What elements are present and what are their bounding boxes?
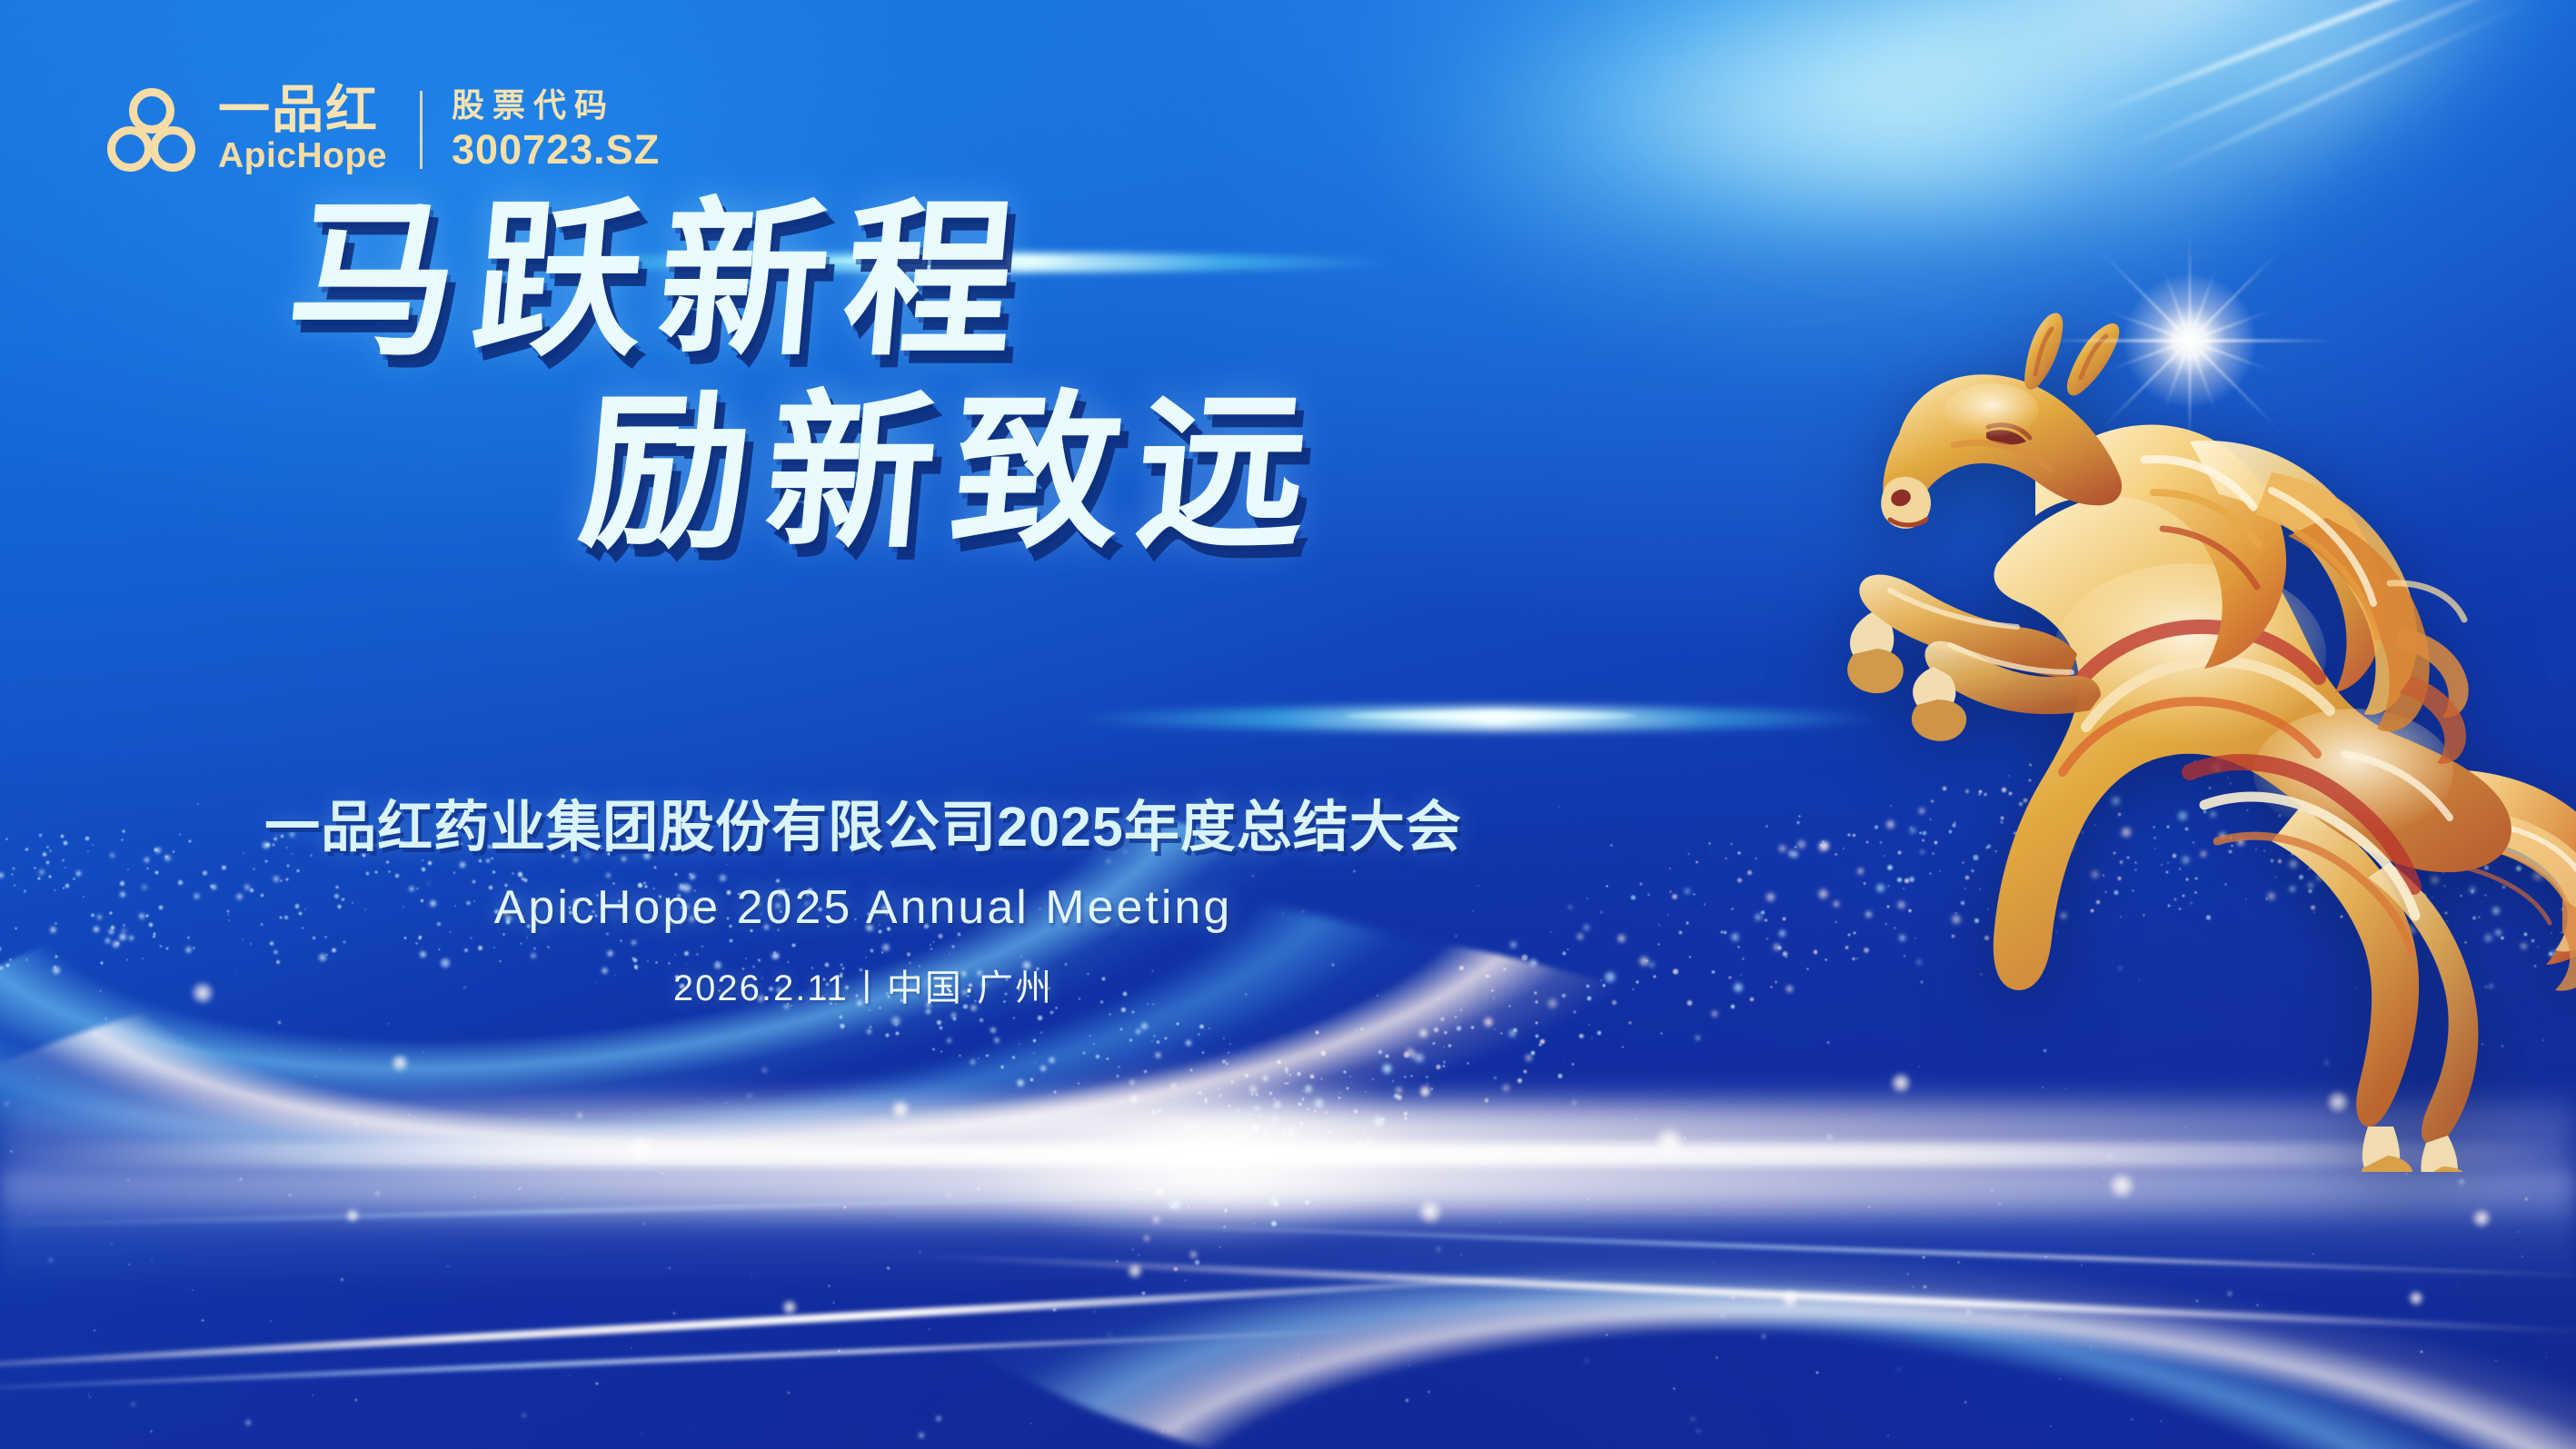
bokeh-particle (1277, 1059, 1281, 1064)
bokeh-particle (1215, 1132, 1218, 1136)
bokeh-particle (952, 1017, 956, 1020)
bokeh-particle (1348, 1206, 1349, 1207)
bokeh-particle (1316, 1182, 1318, 1184)
horse-head (1881, 313, 2122, 528)
bokeh-particle (1456, 1025, 1462, 1031)
bokeh-particle (1289, 1074, 1291, 1076)
bokeh-particle (1107, 1332, 1112, 1337)
bokeh-particle (1343, 1070, 1347, 1074)
bokeh-particle (886, 1266, 890, 1271)
bokeh-particle (935, 1415, 941, 1422)
bokeh-particle (2524, 1197, 2528, 1201)
bokeh-particle (1183, 1123, 1192, 1132)
bokeh-particle (1032, 1038, 1037, 1043)
bokeh-particle (1912, 1285, 1915, 1288)
bokeh-particle (1229, 1153, 1233, 1156)
bokeh-particle (1408, 1365, 1410, 1366)
bokeh-particle (1427, 1390, 1430, 1393)
bokeh-particle (1228, 1105, 1231, 1108)
bokeh-particle (1499, 1221, 1501, 1223)
subtitle-en: ApicHope 2025 Annual Meeting (0, 880, 1726, 935)
bokeh-particle (1393, 1093, 1399, 1099)
bokeh-particle (1436, 1246, 1441, 1252)
bokeh-particle (1237, 1109, 1239, 1112)
bokeh-particle (1730, 1004, 1736, 1009)
bokeh-particle (1730, 843, 1733, 846)
bokeh-particle (1922, 1255, 1925, 1259)
logo-divider (420, 91, 423, 169)
bokeh-particle (1467, 1062, 1469, 1065)
bokeh-particle (1138, 1254, 1140, 1256)
bokeh-particle (1320, 1050, 1327, 1057)
bokeh-particle (1965, 1309, 1972, 1315)
bokeh-particle (1535, 1021, 1538, 1025)
bokeh-particle (1338, 1092, 1340, 1094)
bokeh-orb (1654, 1126, 1685, 1157)
bokeh-particle (1896, 1367, 1901, 1372)
bokeh-particle (1253, 1223, 1255, 1225)
bokeh-particle (1351, 1081, 1353, 1083)
bokeh-particle (895, 1023, 898, 1026)
bokeh-particle (840, 1135, 842, 1137)
bokeh-particle (1622, 1046, 1625, 1048)
bokeh-particle (1273, 1100, 1282, 1109)
bokeh-particle (761, 1067, 769, 1074)
bokeh-particle (1427, 1083, 1428, 1085)
bokeh-particle (1013, 1017, 1016, 1019)
bokeh-particle (1286, 1126, 1297, 1137)
bokeh-particle (28, 1214, 30, 1216)
bokeh-particle (1338, 1097, 1340, 1099)
bokeh-particle (1443, 1060, 1447, 1064)
bokeh-particle (1484, 1097, 1489, 1103)
bokeh-particle (1406, 1047, 1413, 1055)
bokeh-particle (340, 1048, 342, 1050)
bokeh-particle (1089, 1035, 1090, 1037)
bokeh-particle (1179, 1425, 1180, 1427)
bokeh-particle (1262, 1131, 1268, 1137)
bokeh-particle (1571, 1099, 1577, 1106)
bokeh-particle (1093, 1310, 1096, 1313)
bokeh-particle (1906, 1273, 1908, 1275)
bokeh-particle (1887, 1434, 1889, 1436)
bokeh-particle (679, 1156, 681, 1158)
bokeh-particle (1731, 908, 1734, 910)
bokeh-particle (1141, 1291, 1146, 1295)
bokeh-particle (2546, 1356, 2548, 1358)
bokeh-particle (111, 1243, 113, 1245)
bokeh-particle (518, 1187, 521, 1190)
bokeh-particle (192, 1289, 194, 1291)
bokeh-particle (2256, 1304, 2259, 1306)
bokeh-particle (990, 1027, 997, 1034)
bokeh-particle (1039, 1065, 1047, 1072)
bokeh-particle (1454, 1148, 1457, 1151)
bokeh-particle (1754, 913, 1762, 921)
bokeh-particle (759, 1145, 761, 1146)
bokeh-particle (838, 1349, 840, 1352)
logo-ring-bottom-right (150, 126, 195, 172)
bokeh-particle (1129, 1094, 1139, 1104)
bokeh-particle (1169, 1205, 1174, 1209)
bokeh-particle (1372, 1078, 1374, 1080)
bokeh-particle (270, 1320, 272, 1322)
bokeh-particle (521, 1413, 526, 1418)
bokeh-particle (992, 1139, 994, 1141)
bokeh-particle (1454, 1016, 1457, 1018)
bokeh-particle (239, 1177, 243, 1181)
bokeh-particle (1118, 1066, 1119, 1067)
bokeh-particle (1523, 1069, 1527, 1074)
bokeh-particle (1419, 1085, 1431, 1097)
bokeh-particle (1378, 1049, 1383, 1055)
bokeh-particle (1276, 1147, 1278, 1150)
iridescent-streak (2063, 0, 2576, 127)
bokeh-particle (1749, 997, 1755, 1003)
bokeh-particle (1405, 1398, 1409, 1403)
speed-line (0, 1192, 1272, 1230)
bokeh-particle (1957, 1261, 1959, 1263)
bokeh-particle (1033, 1121, 1039, 1127)
bokeh-particle (1353, 1108, 1359, 1115)
bokeh-particle (1138, 1206, 1139, 1208)
bokeh-particle (1281, 1134, 1285, 1137)
bokeh-particle (1224, 1208, 1228, 1213)
bokeh-particle (895, 1031, 900, 1036)
bokeh-particle (2081, 1265, 2083, 1266)
bokeh-particle (1746, 869, 1753, 876)
bokeh-particle (1095, 1054, 1100, 1059)
bokeh-particle (1310, 1148, 1312, 1150)
bokeh-particle (1218, 1094, 1222, 1097)
bokeh-particle (1155, 1187, 1165, 1197)
bokeh-particle (1306, 1180, 1308, 1182)
bokeh-particle (1298, 1354, 1299, 1355)
bokeh-particle (2420, 1350, 2423, 1354)
bokeh-particle (1299, 1121, 1305, 1126)
bokeh-particle (2023, 1313, 2028, 1318)
bokeh-particle (1347, 1156, 1355, 1164)
bokeh-particle (672, 1311, 676, 1315)
bokeh-particle (1129, 1122, 1130, 1124)
bokeh-particle (1240, 1197, 1242, 1199)
bokeh-particle (1034, 1063, 1036, 1065)
bokeh-particle (1579, 1035, 1581, 1037)
bokeh-particle (1344, 1151, 1347, 1154)
bokeh-particle (631, 1347, 632, 1349)
bokeh-particle (388, 1023, 390, 1025)
bokeh-particle (1366, 1137, 1374, 1146)
bokeh-particle (482, 1113, 483, 1115)
bokeh-particle (1531, 1345, 1533, 1346)
bokeh-orb (2472, 1208, 2491, 1228)
bokeh-particle (1225, 1150, 1231, 1156)
bokeh-particle (1444, 1030, 1448, 1035)
bokeh-particle (2050, 1425, 2052, 1427)
bokeh-particle (890, 1016, 902, 1027)
bokeh-particle (761, 1147, 763, 1150)
bokeh-particle (1157, 1108, 1161, 1113)
bokeh-particle (1346, 1087, 1349, 1090)
bokeh-particle (1313, 1109, 1317, 1113)
bokeh-particle (1228, 1051, 1230, 1054)
bokeh-particle (560, 1198, 562, 1201)
bokeh-particle (1530, 1050, 1536, 1056)
bokeh-particle (10, 1150, 13, 1153)
bokeh-particle (979, 1017, 984, 1023)
bokeh-particle (1740, 974, 1742, 976)
bokeh-particle (1205, 1097, 1208, 1101)
bokeh-particle (1150, 1109, 1157, 1116)
bokeh-particle (1106, 1057, 1109, 1060)
bokeh-particle (1250, 1093, 1254, 1097)
bokeh-particle (1433, 1027, 1439, 1033)
bokeh-particle (1730, 932, 1740, 942)
bokeh-particle (1223, 1037, 1226, 1040)
bokeh-orb (627, 1136, 654, 1163)
bokeh-particle (354, 1398, 358, 1402)
bokeh-particle (1483, 1017, 1494, 1027)
bokeh-particle (595, 1382, 598, 1384)
bokeh-particle (1248, 1085, 1258, 1094)
ribbon-crossing-glow (963, 1054, 1436, 1254)
bokeh-particle (642, 1433, 643, 1434)
bokeh-particle (1539, 1038, 1546, 1045)
bokeh-particle (1403, 1051, 1410, 1058)
bokeh-particle (1421, 1089, 1428, 1097)
bokeh-particle (1443, 1046, 1445, 1047)
bokeh-particle (551, 1191, 552, 1193)
bokeh-particle (1226, 1062, 1229, 1066)
subtitle-block: 一品红药业集团股份有限公司2025年度总结大会 ApicHope 2025 An… (0, 781, 1726, 1011)
bokeh-particle (1269, 1197, 1279, 1207)
bokeh-particle (642, 1222, 645, 1225)
bokeh-particle (1082, 1051, 1086, 1055)
bokeh-particle (869, 1026, 871, 1028)
bokeh-particle (1254, 1105, 1261, 1112)
bokeh-particle (947, 1122, 949, 1124)
bokeh-particle (1660, 1032, 1663, 1035)
bokeh-particle (1363, 1132, 1366, 1135)
bokeh-particle (1713, 1261, 1715, 1263)
bokeh-particle (1198, 1090, 1202, 1095)
bokeh-particle (1136, 1187, 1139, 1191)
bokeh-particle (840, 1023, 846, 1029)
bokeh-particle (1129, 1079, 1135, 1086)
bokeh-particle (1392, 1080, 1395, 1083)
bokeh-particle (576, 1112, 583, 1119)
bokeh-particle (1431, 1087, 1433, 1089)
bokeh-particle (1269, 1142, 1271, 1144)
bokeh-particle (244, 1419, 252, 1426)
bokeh-particle (1185, 1039, 1192, 1047)
bokeh-particle (2457, 1285, 2459, 1287)
bokeh-particle (839, 1015, 842, 1018)
bokeh-particle (1221, 1059, 1227, 1065)
bokeh-particle (1282, 1129, 1285, 1132)
aurora-wisp (1769, 0, 2576, 290)
bokeh-particle (1368, 1396, 1369, 1398)
bokeh-particle (661, 1172, 664, 1175)
bokeh-particle (1301, 1097, 1305, 1101)
bokeh-particle (1140, 1022, 1149, 1030)
iridescent-streak (2101, 0, 2571, 158)
bokeh-particle (1272, 1156, 1278, 1163)
bokeh-particle (473, 1196, 475, 1198)
bokeh-particle (1019, 1043, 1020, 1045)
bokeh-particle (156, 1135, 158, 1136)
bokeh-particle (1325, 1111, 1328, 1114)
bokeh-particle (1188, 1206, 1190, 1208)
bokeh-particle (1244, 1073, 1249, 1078)
bokeh-particle (1304, 1084, 1313, 1093)
bokeh-particle (1201, 1135, 1203, 1136)
bokeh-particle (1426, 1076, 1428, 1078)
bokeh-particle (94, 1329, 95, 1331)
bokeh-particle (832, 1302, 834, 1304)
bokeh-particle (104, 1017, 107, 1020)
bokeh-particle (1761, 1334, 1766, 1339)
bokeh-orb (391, 1054, 409, 1072)
headline-line-2: 励新致远 (574, 388, 1734, 557)
bokeh-particle (1716, 1356, 1718, 1359)
bokeh-particle (648, 1197, 650, 1199)
bokeh-particle (1011, 1056, 1015, 1059)
bokeh-particle (1385, 1054, 1389, 1058)
bokeh-particle (1486, 1101, 1487, 1103)
bokeh-particle (128, 1264, 130, 1265)
bokeh-particle (1201, 1425, 1203, 1427)
bokeh-particle (1347, 1265, 1348, 1267)
bokeh-particle (2103, 1176, 2104, 1177)
stock-info: 股票代码 300723.SZ (452, 87, 660, 172)
bokeh-particle (1223, 1226, 1226, 1228)
bokeh-particle (277, 1020, 282, 1025)
bokeh-particle (1152, 1216, 1160, 1224)
bokeh-particle (929, 1328, 930, 1330)
bokeh-particle (1273, 1201, 1279, 1207)
bokeh-particle (1502, 1084, 1510, 1092)
bokeh-particle (1261, 1075, 1269, 1083)
bokeh-particle (1695, 1035, 1701, 1041)
bokeh-particle (1161, 1431, 1164, 1434)
bokeh-particle (1436, 1064, 1442, 1070)
bokeh-particle (1564, 1061, 1566, 1063)
bokeh-particle (1320, 1077, 1324, 1081)
bokeh-particle (918, 1432, 925, 1439)
bokeh-particle (1119, 1027, 1123, 1031)
bokeh-particle (1309, 1074, 1316, 1080)
bokeh-particle (1552, 1014, 1554, 1016)
bokeh-particle (1417, 1215, 1419, 1216)
bokeh-particle (1355, 1029, 1357, 1031)
bokeh-orb (345, 1208, 360, 1223)
bokeh-particle (104, 1355, 106, 1356)
bokeh-particle (586, 1154, 588, 1156)
bokeh-particle (1696, 1429, 1701, 1434)
bokeh-particle (1432, 1042, 1436, 1046)
cyan-light-streak-lower-core (1345, 710, 1636, 721)
company-name-cn: 一品红 (218, 84, 387, 136)
bokeh-particle (1139, 1156, 1142, 1160)
bokeh-particle (1395, 1087, 1403, 1095)
lower-haze-band (0, 1172, 2576, 1290)
bokeh-particle (977, 1186, 981, 1191)
bokeh-particle (1222, 1143, 1224, 1145)
bokeh-particle (1239, 1132, 1242, 1135)
bokeh-particle (447, 1265, 449, 1267)
bokeh-particle (1636, 1118, 1637, 1120)
bokeh-particle (2195, 1299, 2199, 1303)
bokeh-particle (1493, 1076, 1497, 1080)
bokeh-particle (1169, 1198, 1182, 1211)
bokeh-particle (1313, 1097, 1325, 1109)
bokeh-particle (1040, 1031, 1042, 1033)
bokeh-particle (1404, 1076, 1406, 1077)
bokeh-particle (1737, 851, 1741, 855)
bokeh-particle (1328, 1129, 1331, 1133)
bokeh-particle (1270, 1220, 1278, 1227)
bokeh-particle (1690, 1416, 1696, 1422)
bokeh-particle (1255, 1093, 1258, 1097)
bokeh-particle (1374, 1137, 1377, 1140)
logo-ring-bottom-left (107, 126, 153, 172)
bokeh-particle (134, 1113, 136, 1115)
bokeh-particle (1470, 1026, 1474, 1029)
bokeh-particle (1588, 1024, 1590, 1026)
bokeh-particle (1517, 1077, 1523, 1084)
bokeh-particle (866, 1028, 873, 1036)
bokeh-particle (1029, 1077, 1034, 1082)
bokeh-particle (1029, 1423, 1031, 1424)
bokeh-particle (633, 1183, 635, 1185)
bokeh-orb (781, 1299, 798, 1315)
bokeh-particle (1584, 1358, 1590, 1365)
bokeh-particle (1194, 1259, 1200, 1265)
bokeh-particle (202, 1098, 204, 1101)
bokeh-particle (1447, 1044, 1452, 1048)
bokeh-particle (668, 1266, 671, 1270)
bokeh-particle (354, 1122, 359, 1126)
bokeh-particle (1241, 1132, 1251, 1142)
headline-block: 马跃新程 励新致远 (0, 195, 1726, 557)
bokeh-particle (1736, 878, 1743, 884)
bokeh-particle (1153, 1035, 1156, 1037)
bokeh-particle (746, 1092, 753, 1099)
bokeh-particle (978, 1057, 980, 1060)
bokeh-particle (919, 1251, 921, 1254)
bokeh-particle (1535, 1034, 1539, 1038)
bokeh-particle (1606, 1334, 1608, 1336)
bokeh-orb (1781, 1290, 1799, 1308)
bokeh-particle (1230, 1080, 1234, 1084)
bokeh-particle (1093, 1043, 1095, 1045)
bokeh-particle (1286, 1082, 1288, 1085)
bokeh-particle (1208, 1131, 1209, 1133)
bokeh-particle (1596, 1030, 1602, 1036)
bokeh-particle (1119, 1146, 1123, 1149)
bokeh-particle (1164, 1037, 1168, 1040)
bokeh-particle (950, 1012, 957, 1018)
bokeh-particle (1226, 1157, 1228, 1160)
bokeh-particle (1285, 1070, 1288, 1073)
bokeh-particle (1500, 1032, 1503, 1035)
bokeh-particle (1228, 1151, 1231, 1154)
bokeh-particle (1258, 1145, 1262, 1148)
bokeh-particle (151, 1260, 153, 1262)
bokeh-particle (1280, 1192, 1282, 1194)
bokeh-particle (1442, 1065, 1446, 1068)
